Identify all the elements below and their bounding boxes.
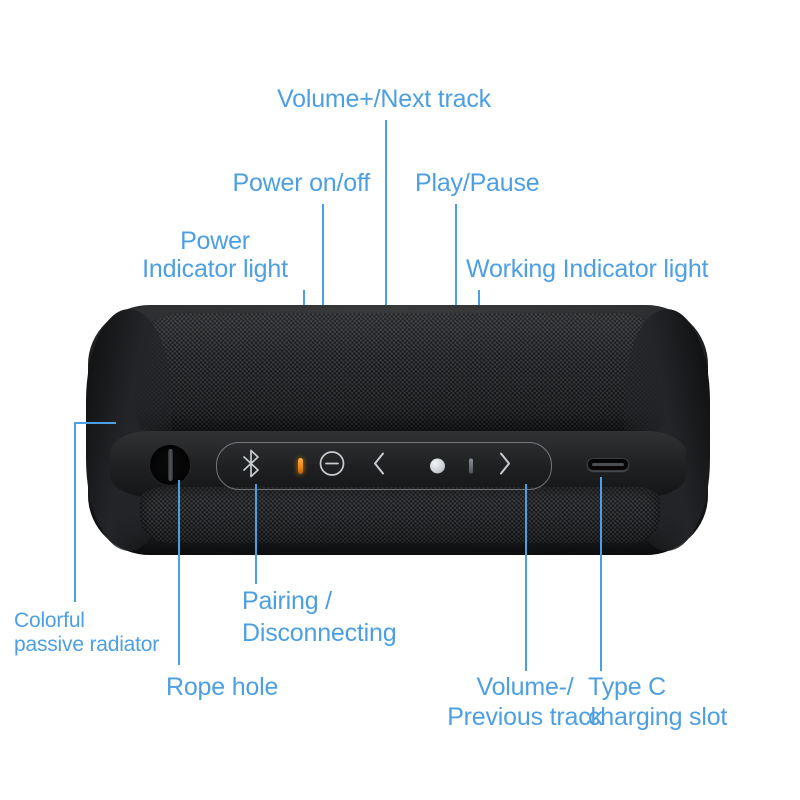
callout-power-indicator-light-line2: Indicator light — [120, 254, 310, 284]
power-indicator-led — [298, 458, 303, 474]
callout-colorful-passive-radiator-line1: Colorful — [14, 608, 244, 634]
callout-volume-up-next-track: Volume+/Next track — [244, 84, 524, 114]
callout-type-c-line1: Type C — [588, 672, 798, 702]
play-pause-dot-icon[interactable] — [430, 459, 445, 474]
callout-type-c-line2: charging slot — [588, 702, 800, 732]
usb-type-c-port[interactable] — [584, 454, 630, 474]
leader-volume-down-previous-track — [525, 484, 527, 671]
bluetooth-icon[interactable] — [241, 449, 261, 484]
callout-play-pause: Play/Pause — [415, 168, 645, 198]
callout-pairing-line1: Pairing / — [242, 586, 492, 616]
working-indicator-led — [469, 459, 473, 474]
callout-volume-down-previous-track-line1: Volume-/ — [440, 672, 610, 702]
speaker-grille-top — [135, 313, 667, 435]
bluetooth-speaker — [88, 305, 708, 555]
leader-type-c-charging-slot — [600, 477, 602, 671]
product-annotation-diagram: Volume+/Next track Power on/off Play/Pau… — [0, 0, 800, 800]
control-capsule — [216, 442, 552, 490]
callout-power-indicator-light-line1: Power — [120, 226, 310, 256]
leader-pairing-disconnecting — [255, 484, 257, 584]
play-pause-dot — [430, 459, 445, 474]
chevron-right-icon[interactable] — [495, 449, 515, 484]
usb-type-c-slot — [587, 458, 629, 471]
callout-rope-hole: Rope hole — [166, 672, 386, 702]
rope-hole-pin — [168, 449, 173, 481]
chevron-left-icon[interactable] — [369, 449, 389, 484]
speaker-grille-bottom — [140, 487, 660, 543]
leader-colorful-passive-radiator-horizontal — [74, 422, 116, 424]
callout-working-indicator-light: Working Indicator light — [466, 254, 786, 284]
leader-colorful-passive-radiator-vertical — [74, 422, 76, 602]
rope-hole[interactable] — [150, 445, 190, 485]
callout-colorful-passive-radiator-line2: passive radiator — [14, 632, 244, 658]
callout-pairing-line2: Disconnecting — [242, 618, 502, 648]
power-minus-circle-icon[interactable] — [317, 449, 347, 484]
callout-power-on-off: Power on/off — [110, 168, 370, 198]
